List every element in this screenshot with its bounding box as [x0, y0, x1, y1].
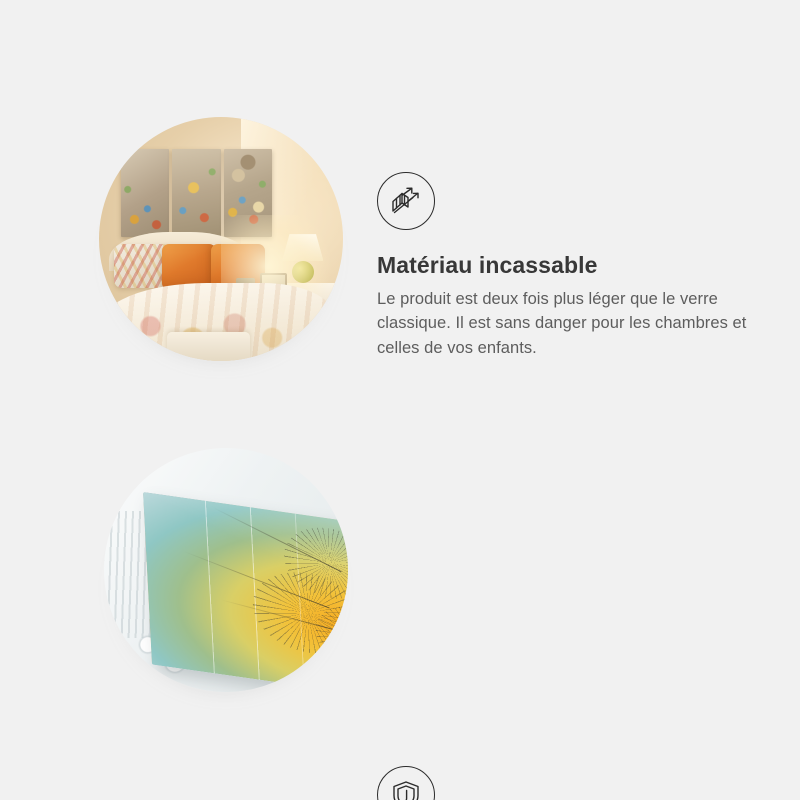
feature-image-circle — [99, 117, 343, 361]
bedroom-triptych-canvas-photo — [99, 117, 343, 361]
shield-icon — [377, 766, 435, 800]
dandelion-glass-print-photo — [104, 448, 348, 692]
feature-text-column: Extrêmement résistant À l’eau, aux rayon… — [377, 766, 749, 800]
feature-block-resistance: Extrêmement résistant À l’eau, aux rayon… — [0, 330, 800, 730]
flexible-panel-arrows-icon — [377, 172, 435, 230]
bedroom-scene — [99, 117, 343, 361]
promo-features-page: Matériau incassable Le produit est deux … — [0, 0, 800, 800]
feature-title: Matériau incassable — [377, 252, 749, 280]
feature-image-circle — [104, 448, 348, 692]
glass-print-panel — [143, 492, 348, 692]
canvas-panel-middle — [172, 149, 220, 237]
canvas-panel-left — [121, 149, 169, 237]
dandelion-scene — [104, 448, 348, 692]
